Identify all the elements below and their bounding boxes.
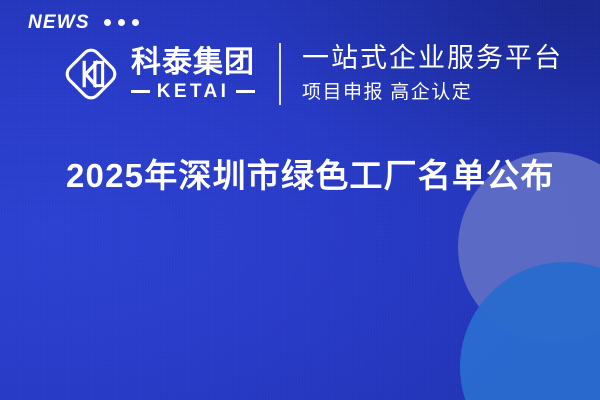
news-eyebrow: NEWS	[28, 13, 139, 32]
brand-divider	[279, 43, 281, 105]
eyebrow-dot	[132, 19, 139, 26]
news-eyebrow-label: NEWS	[28, 13, 90, 32]
news-banner: NEWS 科泰集团 KETAI	[0, 0, 600, 400]
brand-name-cn: 科泰集团	[131, 47, 255, 78]
eyebrow-dot	[104, 19, 111, 26]
brand-lockup: 科泰集团 KETAI 一站式企业服务平台 项目申报 高企认定	[60, 42, 563, 105]
slogan-block: 一站式企业服务平台 项目申报 高企认定	[302, 42, 563, 105]
headline: 2025年深圳市绿色工厂名单公布	[66, 155, 555, 196]
eyebrow-dot	[118, 19, 125, 26]
brand-wordmark: 科泰集团 KETAI	[131, 47, 255, 100]
ketai-diamond-monogram-icon	[60, 43, 122, 105]
eyebrow-dots-icon	[104, 19, 139, 26]
slogan-sub: 项目申报 高企认定	[302, 81, 563, 105]
slogan-main: 一站式企业服务平台	[302, 42, 563, 74]
brand-rule-right	[236, 90, 255, 93]
brand-block: 科泰集团 KETAI	[60, 43, 255, 105]
brand-name-en-row: KETAI	[131, 82, 255, 101]
brand-name-en: KETAI	[157, 82, 230, 101]
brand-rule-left	[131, 90, 150, 93]
